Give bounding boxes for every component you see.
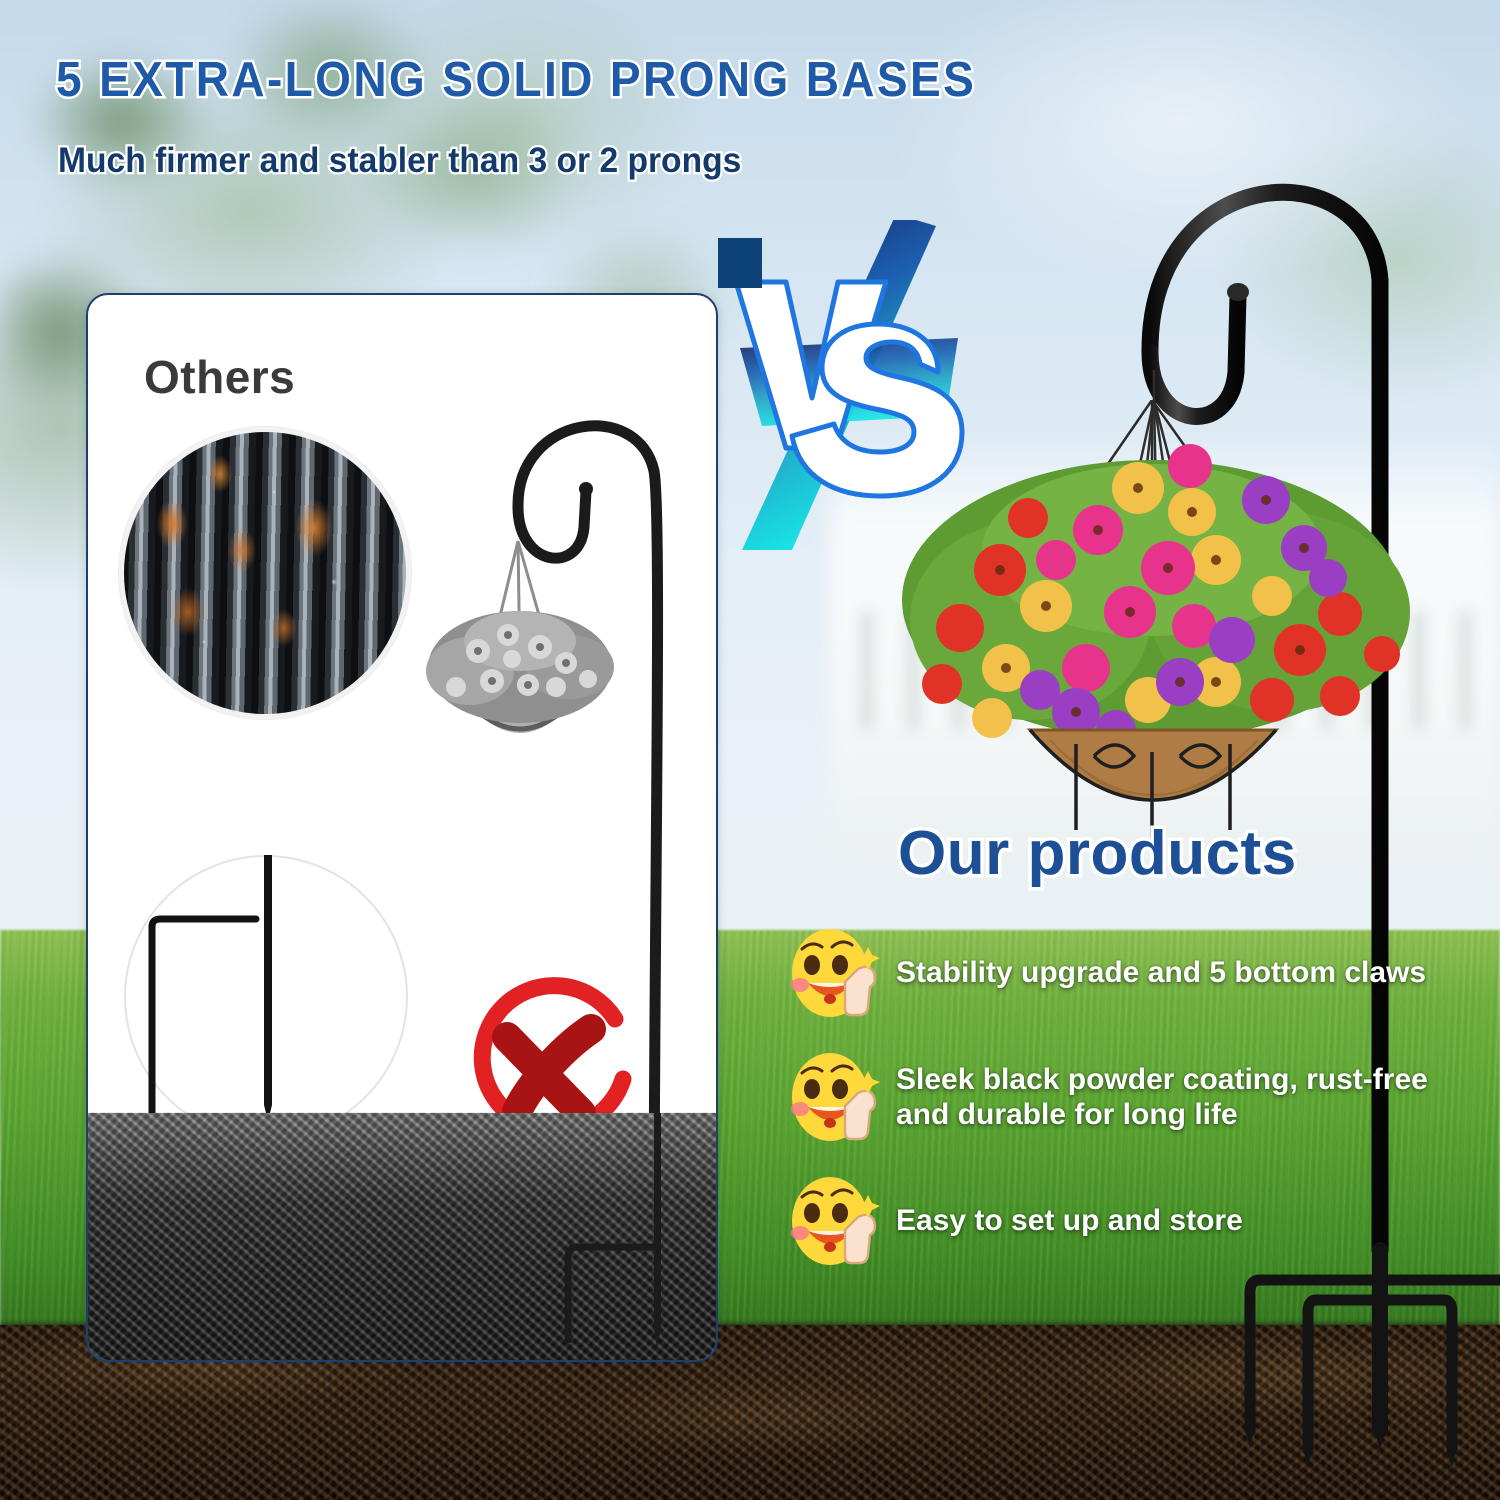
benefit-text: Stability upgrade and 5 bottom claws [896, 955, 1426, 990]
product-flower-basket [880, 400, 1440, 840]
list-item: Easy to set up and store [786, 1173, 1486, 1269]
page-headline: 5 EXTRA-LONG SOLID PRONG BASES [56, 56, 976, 105]
list-item: Sleek black powder coating, rust-free an… [786, 1049, 1486, 1145]
smiley-thumbs-up-icon [786, 925, 886, 1021]
smiley-thumbs-up-icon [786, 1049, 886, 1145]
list-item: Stability upgrade and 5 bottom claws [786, 925, 1486, 1021]
benefit-text: Easy to set up and store [896, 1203, 1243, 1238]
benefits-list: Stability upgrade and 5 bottom claws [786, 925, 1486, 1297]
infographic-canvas: 5 EXTRA-LONG SOLID PRONG BASES Much firm… [0, 0, 1500, 1500]
others-comparison-card: Others [86, 293, 718, 1362]
smiley-thumbs-up-icon [786, 1173, 886, 1269]
benefit-text: Sleek black powder coating, rust-free an… [896, 1062, 1428, 1133]
others-ground-texture [88, 1113, 716, 1360]
page-subheadline: Much firmer and stabler than 3 or 2 pron… [58, 143, 741, 178]
navy-square-accent [718, 238, 762, 288]
our-products-label: Our products [898, 818, 1297, 889]
